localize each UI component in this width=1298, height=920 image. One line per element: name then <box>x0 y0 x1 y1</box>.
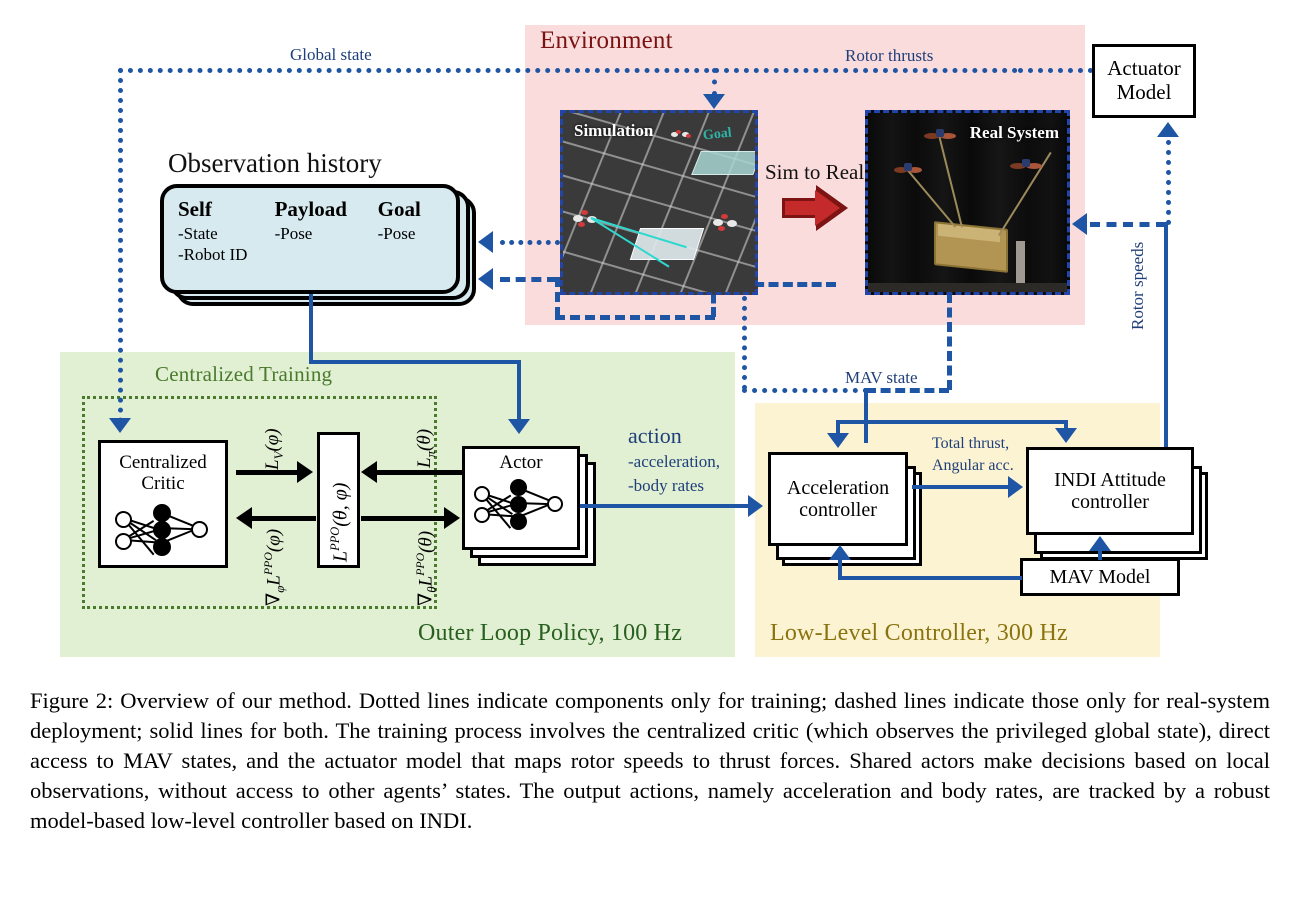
global-state-arrowhead <box>109 418 131 433</box>
obs-header-self: Self <box>178 197 275 222</box>
sim-to-obs-arrowhead <box>478 231 493 253</box>
sim-down-dotted <box>742 296 747 390</box>
rotor-speeds-to-real-dashed <box>1090 222 1166 227</box>
real-system-caption: Real System <box>970 123 1059 143</box>
mav-state-line <box>864 388 868 443</box>
global-state-label: Global state <box>290 45 372 65</box>
acceleration-controller-block: Acceleration controller <box>768 452 908 546</box>
actuator-model-block: Actuator Model <box>1092 44 1196 118</box>
simulation-image: Goal Simulation <box>560 110 758 295</box>
obs-self-robot-id: -Robot ID <box>178 245 283 265</box>
sim-to-obs-dotted <box>500 240 560 245</box>
l-v-label: LV(φ) <box>262 428 287 470</box>
global-state-line-left <box>118 68 123 423</box>
sim-to-real-label: Sim to Real <box>765 160 864 185</box>
mav-model-to-acc-arrowhead <box>829 545 851 560</box>
real-to-obs-arrowhead <box>478 268 493 290</box>
indi-line2: controller <box>1071 491 1149 513</box>
obs-goal-pose: -Pose <box>378 224 442 244</box>
thrusts-to-sim-line <box>712 68 717 96</box>
observation-history-title: Observation history <box>168 148 382 179</box>
obs-to-actor-arrowhead <box>508 419 530 434</box>
critic-to-ppo-line <box>236 470 298 475</box>
global-state-line-top <box>118 68 1018 73</box>
figure-caption: Figure 2: Overview of our method. Dotted… <box>30 686 1270 836</box>
acc-to-indi-line <box>912 485 1010 489</box>
rotor-speeds-arrowhead <box>1157 122 1179 137</box>
rotor-thrusts-label: Rotor thrusts <box>845 46 933 66</box>
actor-to-ppo-arrowhead <box>361 461 377 483</box>
mav-model-to-indi-line <box>1098 550 1102 560</box>
acc-to-indi-arrowhead <box>1008 476 1023 498</box>
actuator-model-line2: Model <box>1117 81 1172 105</box>
obs-to-actor-v1 <box>309 294 313 364</box>
actor-to-acc-line <box>580 504 750 508</box>
real-system-image: Real System <box>865 110 1070 295</box>
figure-diagram: Environment Outer Loop Policy, 100 Hz Lo… <box>0 0 1298 668</box>
rotor-thrusts-line <box>1018 68 1093 73</box>
indi-attitude-controller-block: INDI Attitude controller <box>1026 447 1194 535</box>
total-thrust-label-2: Angular acc. <box>932 457 1014 475</box>
observation-card-1: Self Payload Goal -State -Pose -Pose -Ro… <box>160 184 460 294</box>
ppo-loss-label: LPPO(θ, φ) <box>328 483 353 562</box>
actuator-model-line1: Actuator <box>1107 57 1180 81</box>
rotor-speeds-dotted <box>1166 140 1171 225</box>
mav-model-block: MAV Model <box>1020 558 1180 596</box>
ppo-to-actor-arrowhead <box>444 507 460 529</box>
goal-box <box>691 151 758 175</box>
real-light-strip <box>1016 241 1025 283</box>
real-system-down-dashed <box>947 293 952 390</box>
action-item1-label: -acceleration, <box>628 452 720 472</box>
obs-to-actor-v2 <box>517 360 521 422</box>
obs-to-actor-h <box>309 360 521 364</box>
real-to-obs-dashed <box>500 277 557 282</box>
sim-to-mav-dotted <box>742 388 868 393</box>
ppo-to-critic-line <box>252 516 316 521</box>
obs-self-state: -State <box>178 224 275 244</box>
obs-payload-pose: -Pose <box>275 224 378 244</box>
ppo-to-critic-arrowhead <box>236 507 252 529</box>
sim-to-real-arrow-icon <box>782 186 848 230</box>
observation-row-1: -State -Pose -Pose <box>178 224 442 244</box>
real-to-obs-dashed-h2 <box>555 315 715 320</box>
actor-label: Actor <box>499 452 542 473</box>
acc-line1: Acceleration <box>787 477 889 499</box>
outer-loop-policy-title: Outer Loop Policy, 100 Hz <box>418 620 682 647</box>
critic-to-ppo-arrowhead <box>297 461 313 483</box>
centralized-critic-block: Centralized Critic <box>98 440 228 568</box>
critic-line1: Centralized <box>119 452 207 473</box>
mav-state-branch <box>836 420 1068 424</box>
mav-model-label: MAV Model <box>1050 566 1151 588</box>
mav-state-to-acc-arrowhead <box>827 433 849 448</box>
real-system-to-mav-dashed <box>866 388 949 393</box>
action-title-label: action <box>628 423 682 449</box>
mav-model-to-indi-arrowhead <box>1089 536 1111 551</box>
critic-line2: Critic <box>141 473 184 494</box>
neural-net-icon <box>111 501 215 553</box>
mav-model-to-acc-line <box>838 576 1022 580</box>
observation-headers: Self Payload Goal <box>178 197 442 222</box>
grad-theta-label: ∇θLPPO(θ) <box>414 531 440 606</box>
ppo-to-actor-line <box>361 516 445 521</box>
goal-label: Goal <box>702 126 732 145</box>
obs-header-goal: Goal <box>378 197 442 222</box>
rotor-speeds-label: Rotor speeds <box>1128 242 1148 330</box>
actor-to-acc-arrowhead <box>748 495 763 517</box>
observation-row-2: -Robot ID <box>178 245 442 265</box>
environment-title: Environment <box>540 27 673 55</box>
centralized-training-title: Centralized Training <box>155 362 332 387</box>
acc-line2: controller <box>799 499 877 521</box>
mav-state-to-indi-arrowhead <box>1055 428 1077 443</box>
actor-neural-net-icon <box>471 477 571 527</box>
mav-state-label: MAV state <box>845 368 918 388</box>
action-item2-label: -body rates <box>628 476 704 496</box>
rotor-speeds-solid <box>1164 222 1168 472</box>
total-thrust-label-1: Total thrust, <box>932 435 1009 453</box>
obs-header-payload: Payload <box>275 197 378 222</box>
grad-phi-label: ∇φLPPO(φ) <box>262 529 288 606</box>
indi-line1: INDI Attitude <box>1054 469 1166 491</box>
thrusts-to-sim-arrowhead <box>703 94 725 109</box>
l-pi-label: Lπ(θ) <box>414 429 439 468</box>
simulation-caption: Simulation <box>574 121 653 141</box>
low-level-controller-title: Low-Level Controller, 300 Hz <box>770 620 1068 647</box>
real-floor <box>868 283 1067 292</box>
mav-model-to-acc-up <box>838 558 842 578</box>
rotor-speeds-to-real-arrowhead <box>1072 213 1087 235</box>
actor-block: Actor <box>462 446 580 550</box>
actor-to-ppo-line <box>377 470 463 475</box>
